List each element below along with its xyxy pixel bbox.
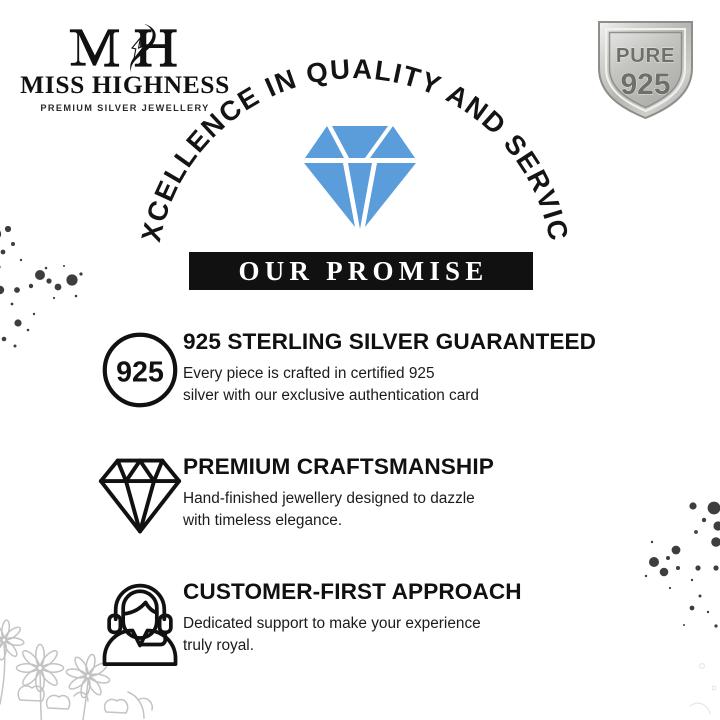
feature-description-line1: Every piece is crafted in certified 925 <box>183 363 603 385</box>
badge-line1: PURE <box>616 44 675 67</box>
feature-title: PREMIUM CRAFTSMANSHIP <box>183 455 683 479</box>
feature-description-line2: with timeless elegance. <box>183 510 603 532</box>
promise-banner-graphic: MISS HIGHNESS PREMIUM SILVER JEWELLERY P… <box>0 0 720 720</box>
feature-description-line2: silver with our exclusive authentication… <box>183 385 603 407</box>
feature-item-customer-first: CUSTOMER-FIRST APPROACH Dedicated suppor… <box>0 580 720 705</box>
hero-diamond-icon <box>302 122 418 232</box>
feature-text-block: 925 STERLING SILVER GUARANTEED Every pie… <box>183 330 683 406</box>
pure-925-shield-badge: PURE 925 <box>593 14 698 122</box>
feature-text-block: PREMIUM CRAFTSMANSHIP Hand-finished jewe… <box>183 455 683 531</box>
feature-title: 925 STERLING SILVER GUARANTEED <box>183 330 683 354</box>
our-promise-label: OUR PROMISE <box>234 258 489 285</box>
feature-description-line1: Hand-finished jewellery designed to dazz… <box>183 488 603 510</box>
circle-925-label: 925 <box>116 356 164 388</box>
feature-description: Dedicated support to make your experienc… <box>183 613 603 657</box>
feature-description-line1: Dedicated support to make your experienc… <box>183 613 603 635</box>
badge-line2: 925 <box>620 68 670 101</box>
feature-item-sterling-silver: 925 925 STERLING SILVER GUARANTEED Every… <box>0 330 720 455</box>
feature-item-craftsmanship: PREMIUM CRAFTSMANSHIP Hand-finished jewe… <box>0 455 720 580</box>
headset-agent-icon <box>95 580 185 672</box>
feature-description: Every piece is crafted in certified 925 … <box>183 363 603 407</box>
feature-description: Hand-finished jewellery designed to dazz… <box>183 488 603 532</box>
feature-title: CUSTOMER-FIRST APPROACH <box>183 580 683 604</box>
our-promise-banner: OUR PROMISE <box>189 252 533 290</box>
circle-925-icon: 925 <box>95 330 185 422</box>
promise-feature-list: 925 925 STERLING SILVER GUARANTEED Every… <box>0 330 720 705</box>
feature-description-line2: truly royal. <box>183 635 603 657</box>
diamond-outline-icon <box>95 455 185 547</box>
feature-text-block: CUSTOMER-FIRST APPROACH Dedicated suppor… <box>183 580 683 656</box>
